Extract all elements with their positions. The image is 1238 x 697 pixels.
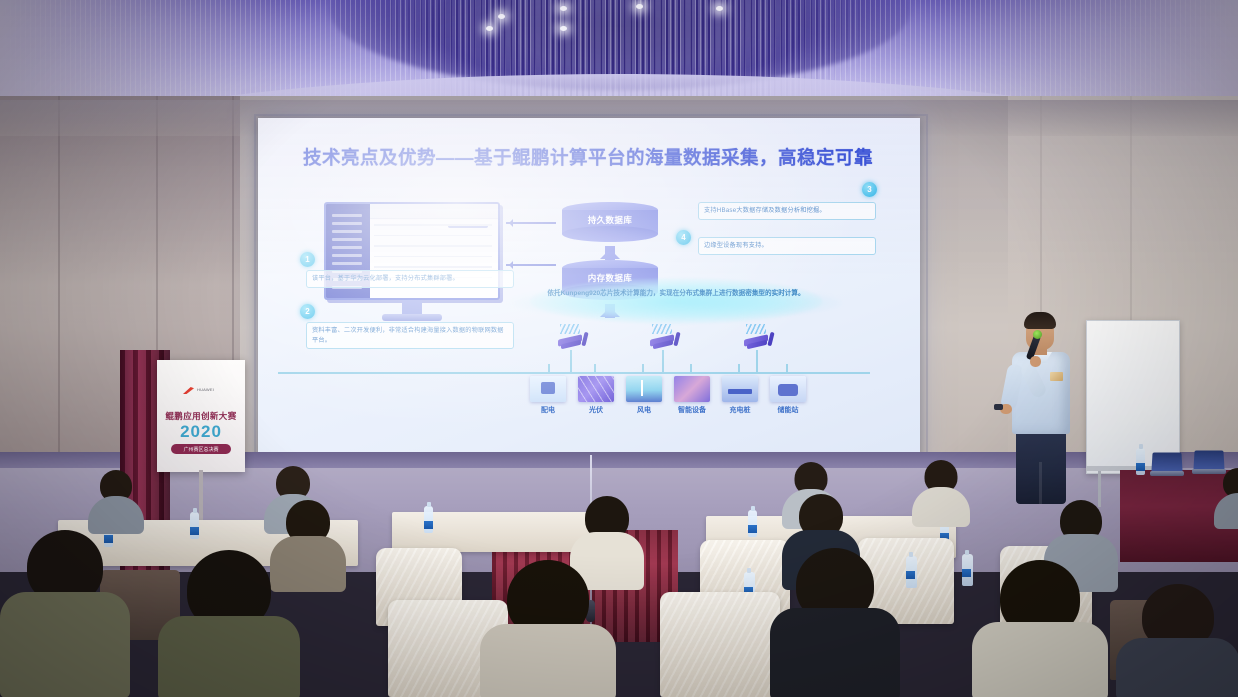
device-label: 光伏 bbox=[578, 405, 614, 415]
memory-database-label: 内存数据库 bbox=[562, 272, 658, 284]
callout-text-3: 支持HBase大数据存储及数据分析和挖掘。 bbox=[698, 202, 876, 220]
monitor-stand-neck bbox=[402, 300, 422, 314]
bus-tick bbox=[548, 364, 550, 373]
audience-member bbox=[912, 460, 970, 526]
wireless-gateway-icon bbox=[558, 330, 588, 350]
cloud-text: 依托Kunpeng920芯片技术计算能力，实现在分布式集群上进行数据密集型的实时… bbox=[544, 288, 808, 300]
brand-text: HUAWEI bbox=[197, 387, 214, 392]
device-solar: 光伏 bbox=[578, 376, 614, 415]
gateway-link bbox=[756, 350, 758, 372]
bus-tick bbox=[738, 364, 740, 373]
device-label: 充电桩 bbox=[722, 405, 758, 415]
ceiling-light bbox=[498, 14, 505, 19]
charging-pile-icon bbox=[722, 376, 758, 402]
shirt-logo-patch bbox=[1050, 372, 1063, 381]
wireless-gateway-icon bbox=[744, 330, 774, 350]
laptop bbox=[1150, 452, 1184, 478]
callout-badge-1: 1 bbox=[300, 252, 315, 267]
ceiling-light bbox=[486, 26, 493, 31]
gateway-link bbox=[570, 350, 572, 372]
wind-power-icon bbox=[626, 376, 662, 402]
ceiling-light bbox=[636, 4, 643, 9]
presentation-photo: 技术亮点及优势——基于鲲鹏计算平台的海量数据采集，高稳定可靠 bbox=[0, 0, 1238, 697]
power-distribution-icon bbox=[530, 376, 566, 402]
water-bottle bbox=[748, 510, 757, 537]
wireless-gateway-icon bbox=[650, 330, 680, 350]
bus-tick bbox=[690, 364, 692, 373]
callout-text-4: 边缘型设备现有支持。 bbox=[698, 237, 876, 255]
bus-tick bbox=[594, 364, 596, 373]
water-bottle bbox=[424, 506, 433, 533]
monitor-toolbar bbox=[370, 204, 500, 219]
slide-title: 技术亮点及优势——基于鲲鹏计算平台的海量数据采集，高稳定可靠 bbox=[288, 144, 888, 170]
presentation-clicker bbox=[994, 404, 1003, 410]
callout-text-1: 该平台，基于华为云化部署，支持分布式集群部署。 bbox=[306, 270, 514, 288]
ceiling-light bbox=[560, 6, 567, 11]
audience-member bbox=[770, 548, 900, 697]
device-wind: 风电 bbox=[626, 376, 662, 415]
banner-subtitle: 广州赛区总决赛 bbox=[171, 444, 231, 454]
audience-member bbox=[88, 470, 144, 532]
arrow-to-monitor-2 bbox=[506, 264, 556, 266]
bus-tick bbox=[786, 364, 788, 373]
flipchart-whiteboard bbox=[1086, 320, 1180, 474]
device-bus-line bbox=[278, 372, 870, 374]
callout-badge-4: 4 bbox=[676, 230, 691, 245]
device-storage: 储能站 bbox=[770, 376, 806, 415]
conference-room: 技术亮点及优势——基于鲲鹏计算平台的海量数据采集，高稳定可靠 bbox=[0, 0, 1238, 697]
chair bbox=[660, 592, 780, 697]
cloud-band bbox=[530, 278, 822, 324]
device-smart: 智能设备 bbox=[674, 376, 710, 415]
callout-text-2: 资料丰富、二次开发便利，非常适合构建海量接入数据的物联网数据平台。 bbox=[306, 322, 514, 349]
audience-member bbox=[1116, 584, 1238, 697]
callout-badge-2: 2 bbox=[300, 304, 315, 319]
device-label: 风电 bbox=[626, 405, 662, 415]
water-bottle bbox=[1136, 448, 1145, 475]
callout-badge-3: 3 bbox=[862, 182, 877, 197]
device-power-distribution: 配电 bbox=[530, 376, 566, 415]
huawei-flower-icon: HUAWEI bbox=[181, 386, 221, 395]
water-bottle bbox=[906, 556, 917, 588]
rollup-banner: HUAWEI 鲲鹏应用创新大赛 2020 广州赛区总决赛 bbox=[157, 360, 245, 472]
ceiling-light bbox=[716, 6, 723, 11]
bus-tick bbox=[642, 364, 644, 373]
device-label: 配电 bbox=[530, 405, 566, 415]
device-label: 智能设备 bbox=[674, 405, 710, 415]
presenter bbox=[1000, 312, 1084, 502]
smart-device-icon bbox=[674, 376, 710, 402]
device-label: 储能站 bbox=[770, 405, 806, 415]
projection-screen: 技术亮点及优势——基于鲲鹏计算平台的海量数据采集，高稳定可靠 bbox=[258, 118, 920, 460]
audience-member bbox=[972, 560, 1108, 697]
persistent-database: 持久数据库 bbox=[562, 202, 658, 242]
ceiling-light bbox=[560, 26, 567, 31]
banner-year: 2020 bbox=[157, 422, 245, 442]
device-charging: 充电桩 bbox=[722, 376, 758, 415]
gateway-link bbox=[662, 350, 664, 372]
monitor-stand-base bbox=[382, 314, 442, 321]
audience-member bbox=[1214, 468, 1238, 528]
audience-member bbox=[480, 560, 616, 697]
audience-member bbox=[158, 550, 300, 697]
solar-panel-icon bbox=[578, 376, 614, 402]
water-bottle bbox=[190, 512, 199, 539]
persistent-database-label: 持久数据库 bbox=[562, 214, 658, 226]
arrow-to-monitor-1 bbox=[506, 222, 556, 224]
banner-title: 鲲鹏应用创新大赛 bbox=[157, 410, 245, 422]
audience-member bbox=[0, 530, 130, 697]
energy-storage-icon bbox=[770, 376, 806, 402]
audience-table bbox=[392, 512, 592, 552]
arrow-up-1 bbox=[605, 246, 615, 260]
